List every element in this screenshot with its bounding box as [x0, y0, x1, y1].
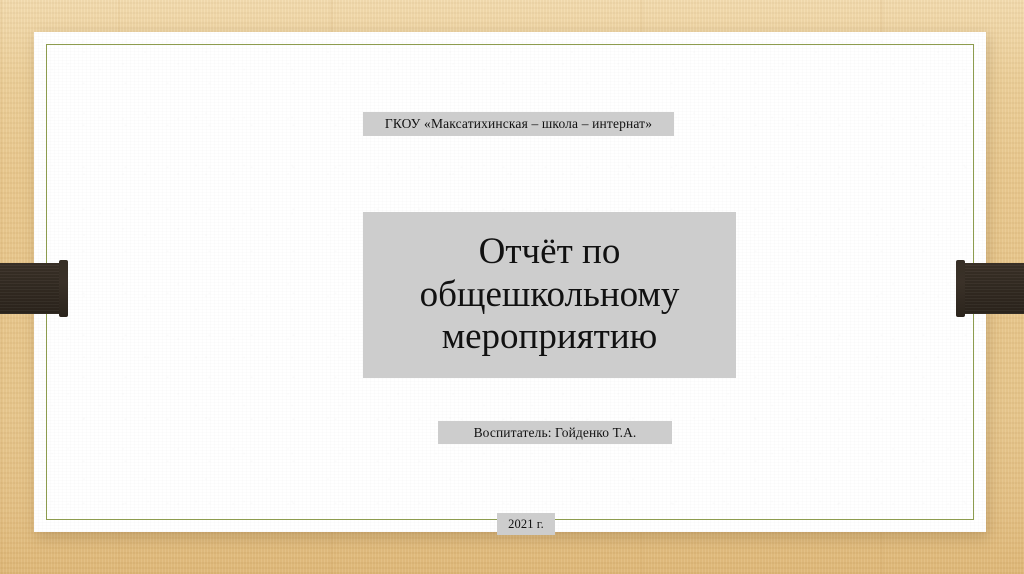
- organization-text: ГКОУ «Максатихинская – школа – интернат»: [363, 112, 674, 136]
- right-clip-decoration: [956, 263, 1024, 314]
- right-clip-cap: [956, 260, 965, 317]
- left-clip-cap: [59, 260, 68, 317]
- author-text: Воспитатель: Гойденко Т.А.: [438, 421, 672, 444]
- left-clip-decoration: [0, 263, 68, 314]
- presentation-slide: ГКОУ «Максатихинская – школа – интернат»…: [34, 32, 986, 532]
- year-text: 2021 г.: [497, 513, 555, 535]
- slide-stage: ГКОУ «Максатихинская – школа – интернат»…: [0, 0, 1024, 574]
- slide-title: Отчёт по общешкольному мероприятию: [363, 212, 736, 378]
